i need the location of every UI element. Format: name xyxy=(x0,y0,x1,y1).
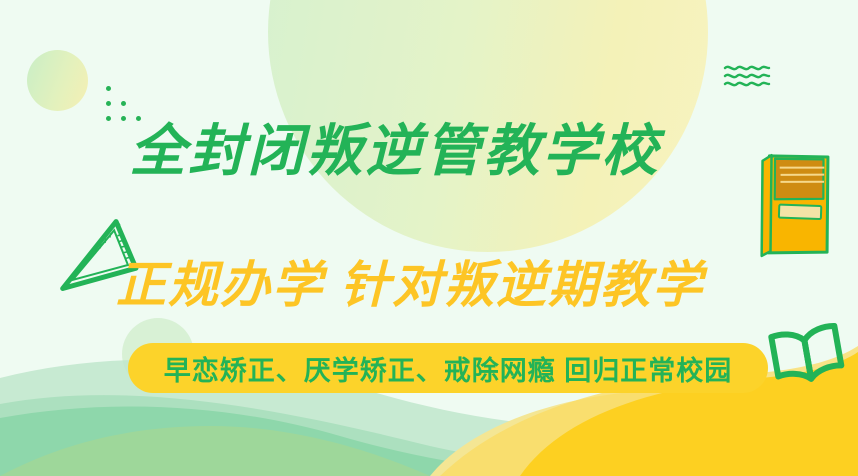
open-book-icon xyxy=(765,318,851,392)
feature-pill-banner: 早恋矫正、厌学矫正、戒除网瘾 回归正常校园 xyxy=(128,343,768,393)
background-decoration-layer xyxy=(0,0,858,476)
small-gradient-circle xyxy=(27,50,88,111)
wavy-lines-icon xyxy=(723,62,771,92)
promotional-banner: 全封闭叛逆管教学校 正规办学 针对叛逆期教学 早恋矫正、厌学矫正、戒除网瘾 回归… xyxy=(0,0,858,476)
dot-grid-icon xyxy=(106,86,152,126)
sub-headline: 正规办学 针对叛逆期教学 xyxy=(0,256,820,314)
feature-pill-text: 早恋矫正、厌学矫正、戒除网瘾 回归正常校园 xyxy=(164,349,733,388)
page-title: 全封闭叛逆管教学校 xyxy=(0,121,790,183)
